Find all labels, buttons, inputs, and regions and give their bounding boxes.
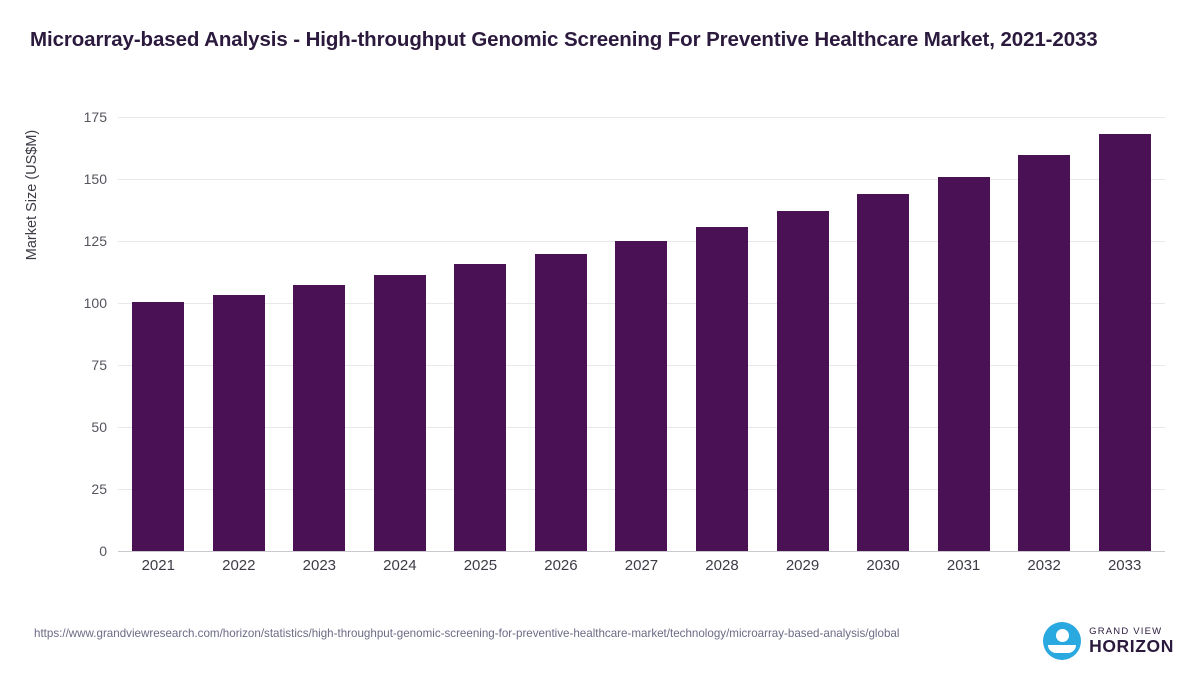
bar[interactable] bbox=[293, 285, 345, 551]
x-axis-tick-label: 2026 bbox=[521, 557, 602, 574]
x-axis-tick-label: 2021 bbox=[118, 557, 199, 574]
y-axis-tick-label: 125 bbox=[84, 233, 107, 249]
bar-slot bbox=[199, 117, 280, 551]
bar-slot bbox=[762, 117, 843, 551]
bar[interactable] bbox=[213, 295, 265, 551]
x-axis-tick-label: 2023 bbox=[279, 557, 360, 574]
bar-slot bbox=[923, 117, 1004, 551]
bar-series bbox=[118, 117, 1165, 551]
bar-slot bbox=[601, 117, 682, 551]
bar[interactable] bbox=[857, 194, 909, 551]
bar[interactable] bbox=[132, 302, 184, 551]
x-axis-tick-label: 2030 bbox=[843, 557, 924, 574]
bar[interactable] bbox=[777, 211, 829, 551]
x-axis-tick-label: 2024 bbox=[360, 557, 441, 574]
bar-slot bbox=[440, 117, 521, 551]
logo-bottom-text: HORIZON bbox=[1089, 637, 1174, 655]
bar-slot bbox=[360, 117, 441, 551]
bar-slot bbox=[279, 117, 360, 551]
source-url[interactable]: https://www.grandviewresearch.com/horizo… bbox=[34, 626, 939, 642]
logo-text: GRAND VIEW HORIZON bbox=[1089, 627, 1174, 655]
page-title: Microarray-based Analysis - High-through… bbox=[30, 26, 1170, 53]
x-axis-line bbox=[118, 551, 1165, 552]
y-axis-tick-label: 50 bbox=[91, 419, 107, 435]
bar-slot bbox=[1004, 117, 1085, 551]
bar[interactable] bbox=[1018, 155, 1070, 551]
x-axis-tick-label: 2033 bbox=[1084, 557, 1165, 574]
x-axis-tick-label: 2032 bbox=[1004, 557, 1085, 574]
x-axis-tick-label: 2027 bbox=[601, 557, 682, 574]
bar-slot bbox=[118, 117, 199, 551]
grid-container: 0255075100125150175 bbox=[118, 117, 1165, 552]
bar[interactable] bbox=[938, 177, 990, 551]
bar[interactable] bbox=[535, 254, 587, 551]
chart-plot-area: Market Size (US$M) 0255075100125150175 2… bbox=[30, 105, 1170, 585]
x-axis-tick-labels: 2021202220232024202520262027202820292030… bbox=[118, 557, 1165, 574]
bar[interactable] bbox=[374, 275, 426, 551]
x-axis-tick-label: 2029 bbox=[762, 557, 843, 574]
y-axis-tick-label: 0 bbox=[99, 543, 107, 559]
bar[interactable] bbox=[1099, 134, 1151, 551]
logo: GRAND VIEW HORIZON bbox=[1043, 622, 1174, 660]
bar[interactable] bbox=[615, 241, 667, 551]
y-axis-tick-label: 100 bbox=[84, 295, 107, 311]
bar[interactable] bbox=[696, 227, 748, 551]
y-axis-tick-label: 175 bbox=[84, 109, 107, 125]
y-axis-tick-label: 75 bbox=[91, 357, 107, 373]
bar-slot bbox=[1084, 117, 1165, 551]
y-axis-tick-label: 150 bbox=[84, 171, 107, 187]
bar-slot bbox=[521, 117, 602, 551]
chart-page: Microarray-based Analysis - High-through… bbox=[0, 0, 1200, 675]
x-axis-tick-label: 2031 bbox=[923, 557, 1004, 574]
bar-slot bbox=[843, 117, 924, 551]
x-axis-tick-label: 2025 bbox=[440, 557, 521, 574]
x-axis-tick-label: 2028 bbox=[682, 557, 763, 574]
bar[interactable] bbox=[454, 264, 506, 551]
y-axis-tick-label: 25 bbox=[91, 481, 107, 497]
grand-view-horizon-logo-icon bbox=[1043, 622, 1081, 660]
bar-slot bbox=[682, 117, 763, 551]
x-axis-tick-label: 2022 bbox=[199, 557, 280, 574]
y-axis-label: Market Size (US$M) bbox=[24, 85, 40, 305]
